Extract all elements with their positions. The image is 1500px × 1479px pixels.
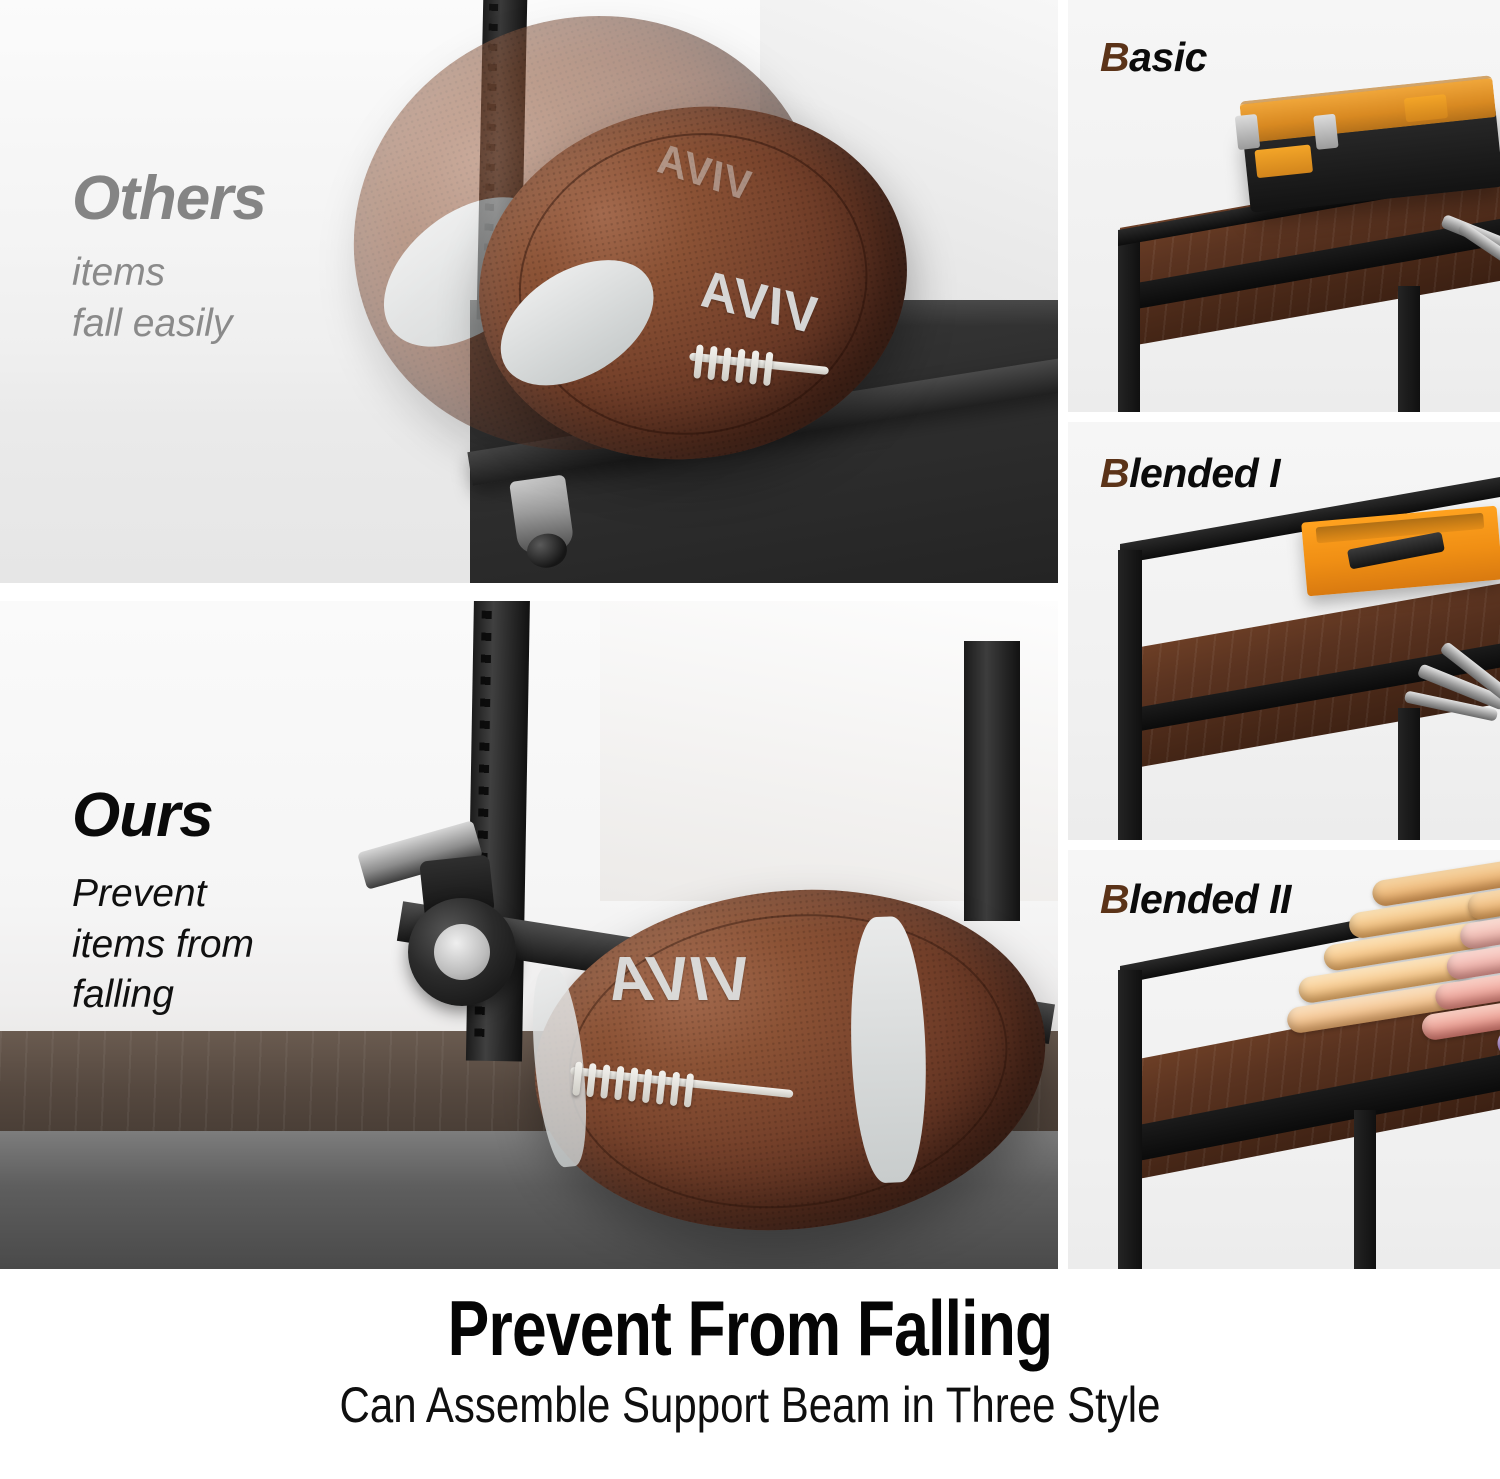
bench-leg-right (1354, 1110, 1376, 1269)
blended-two-tag-initial: B (1100, 876, 1129, 922)
tool-box-clasp-left (1235, 114, 1260, 150)
orange-storage-bin (1301, 506, 1500, 597)
blended-two-style-panel: Blended II (1068, 850, 1500, 1269)
ours-text-block: Ours Prevent items from falling (72, 785, 254, 1021)
tool-box-drawer (1254, 144, 1313, 178)
football-logo: VIVA (607, 944, 751, 1015)
bench-leg-left (1118, 970, 1142, 1269)
ours-comparison-panel: VIVA Basket Style Ours Prevent items fro… (0, 601, 1058, 1269)
others-comparison-panel: VIVA VIVA Others items fall easily (0, 0, 1058, 583)
ours-subline-3: falling (72, 970, 254, 1021)
others-text-block: Others items fall easily (72, 168, 266, 349)
ours-subline-2: items from (72, 920, 254, 971)
bench-leg-left (1118, 230, 1140, 412)
basic-style-panel: Basic (1068, 0, 1500, 412)
caster-wheel (408, 898, 516, 1006)
blended-one-style-panel: Blended I (1068, 422, 1500, 840)
basic-style-tag: Basic (1100, 34, 1207, 81)
bin-tool (1347, 532, 1445, 570)
basic-tag-rest: asic (1129, 34, 1207, 80)
bench-leg-right (1398, 286, 1420, 412)
blended-one-tag-initial: B (1100, 450, 1129, 496)
footer-caption: Prevent From Falling Can Assemble Suppor… (0, 1270, 1500, 1479)
comparison-board: VIVA VIVA Others items fall easily (0, 0, 1500, 1270)
bench-leg-left (1118, 550, 1142, 840)
blended-one-style-tag: Blended I (1100, 450, 1280, 497)
others-headline: Others (72, 168, 266, 230)
bench-leg-right (1398, 708, 1420, 840)
blended-two-style-tag: Blended II (1100, 876, 1291, 923)
others-subline-1: items (72, 248, 266, 299)
tool-box-lid (1239, 75, 1496, 143)
tool-box-latch (1404, 94, 1448, 122)
caster-assembly (360, 836, 530, 966)
caster-wheel (509, 474, 575, 555)
blended-one-tag-rest: lended I (1129, 450, 1280, 496)
ours-headline: Ours (72, 785, 254, 847)
footer-subtitle: Can Assemble Support Beam in Three Style (120, 1378, 1380, 1433)
ours-subline-1: Prevent (72, 869, 254, 920)
footer-title: Prevent From Falling (150, 1288, 1350, 1370)
blended-two-tag-rest: lended II (1129, 876, 1291, 922)
basic-tag-initial: B (1100, 34, 1129, 80)
shelf-post-right (964, 641, 1020, 921)
others-subline-2: fall easily (72, 299, 266, 350)
tool-box-clasp-mid (1313, 114, 1338, 150)
